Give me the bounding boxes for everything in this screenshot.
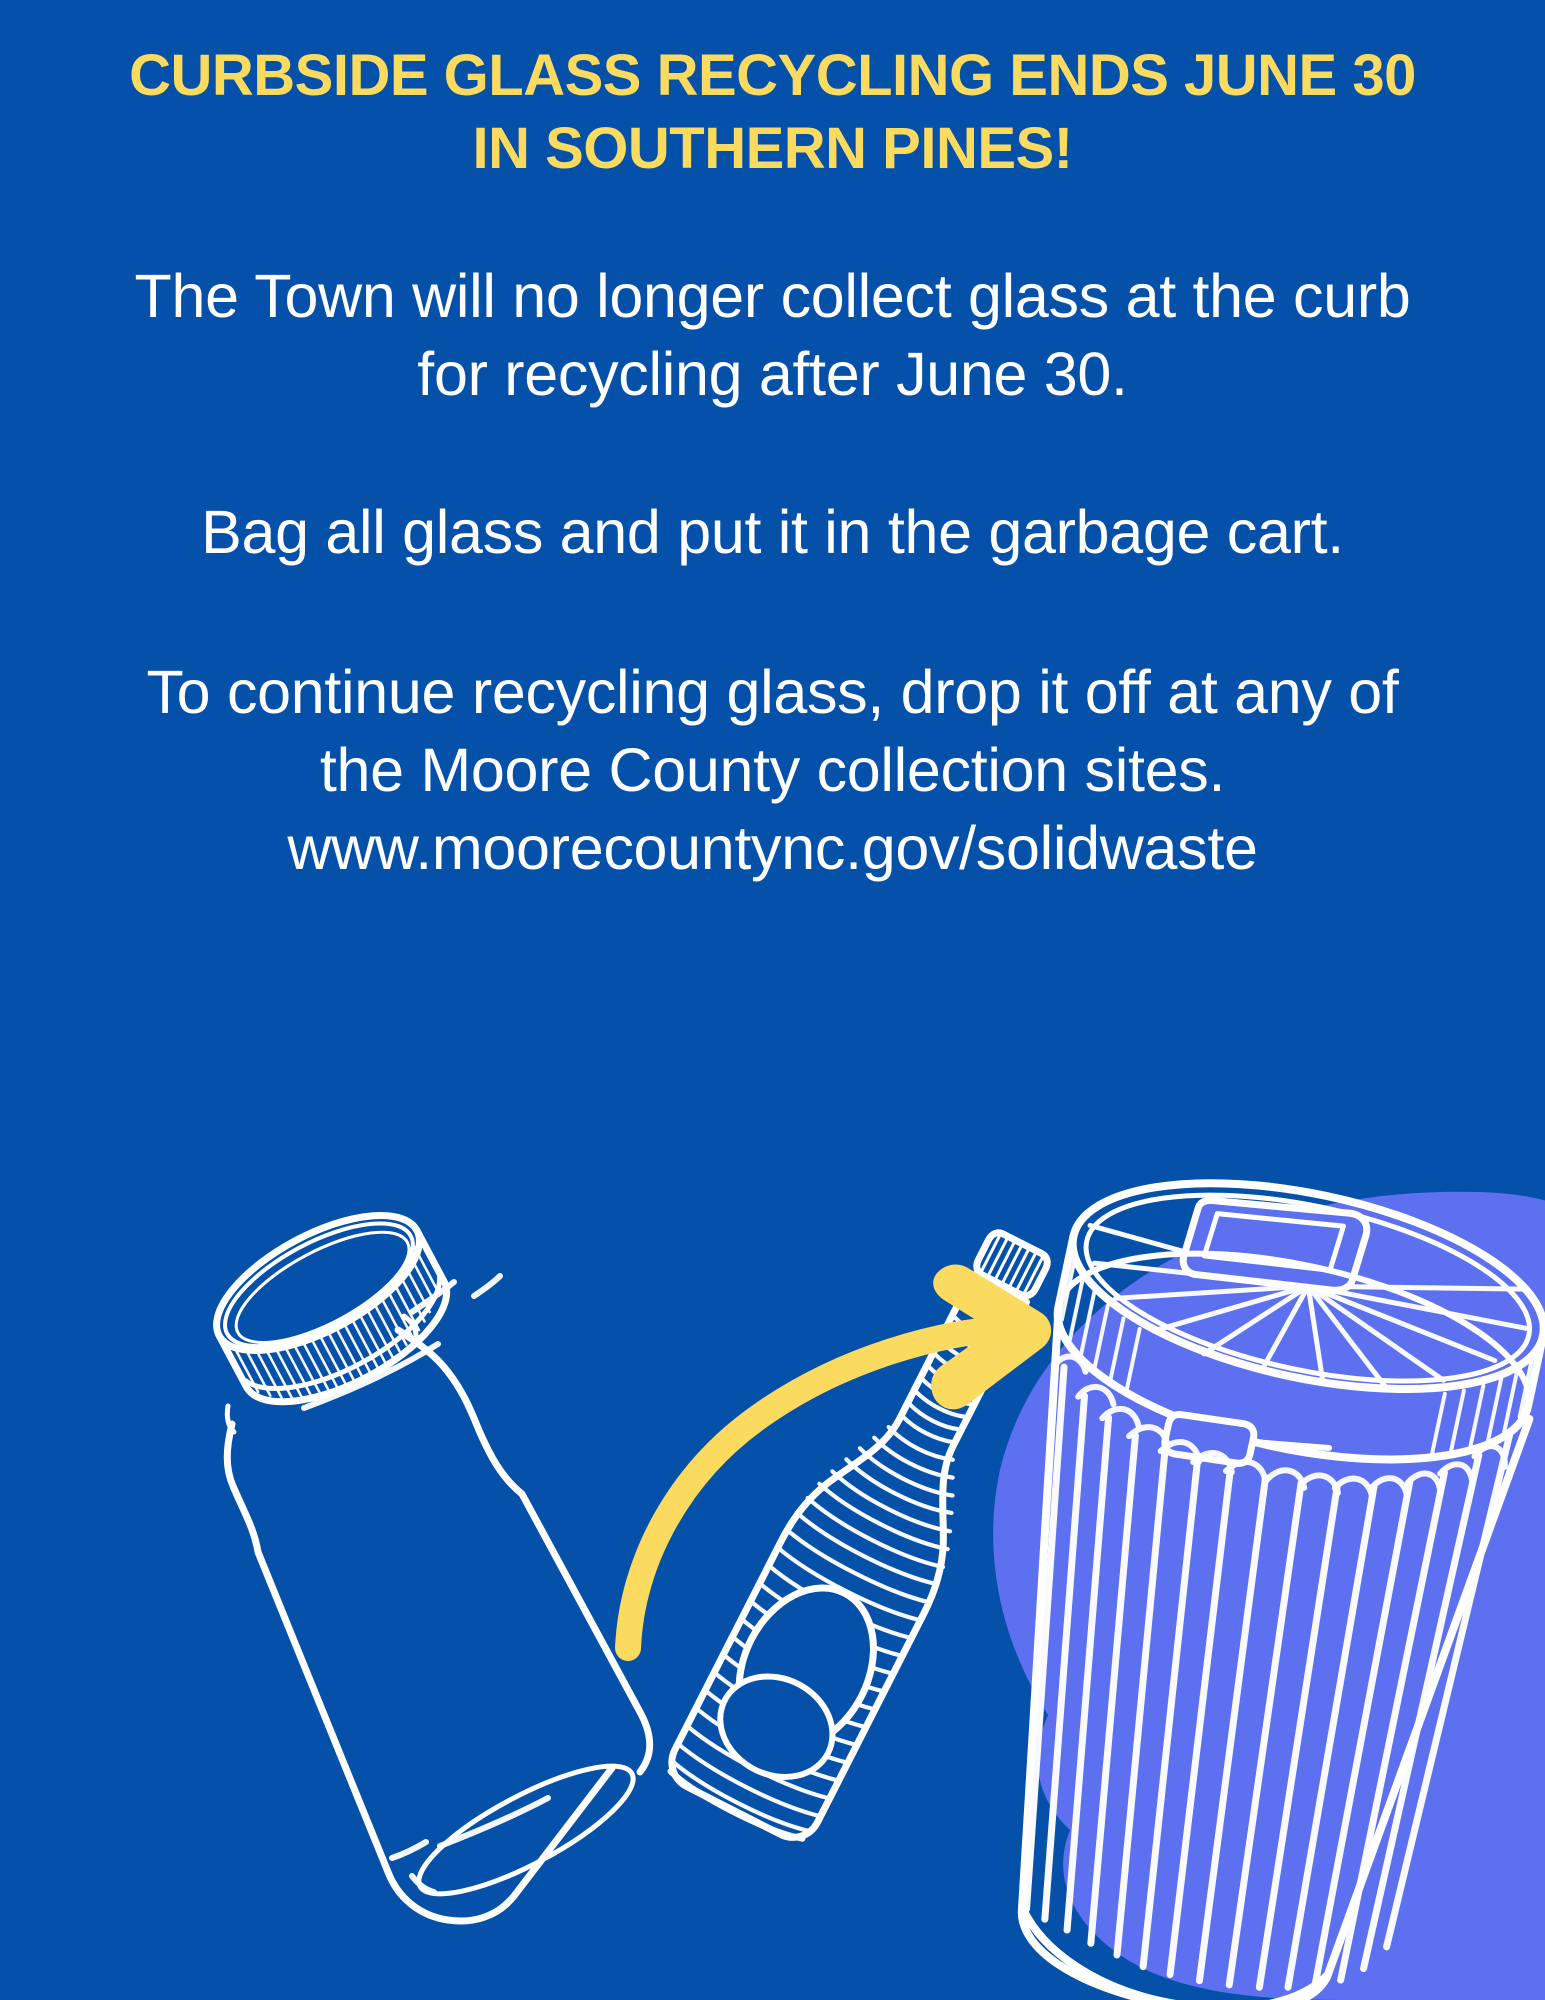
paragraph-bag-all-glass: Bag all glass and put it in the garbage … <box>18 493 1527 571</box>
text-content: CURBSIDE GLASS RECYCLING ENDS JUNE 30 IN… <box>0 0 1545 887</box>
cart-lid-latch <box>1163 1408 1256 1469</box>
bottle-cap <box>973 1229 1051 1299</box>
cart-lid-spokes <box>1068 1198 1534 1422</box>
jar-highlights <box>304 1276 500 1408</box>
cart-body-outline <box>923 1319 1529 2000</box>
p3-line-1: To continue recycling glass, drop it off… <box>18 653 1527 731</box>
jar-lid-top-rim <box>197 1188 440 1378</box>
periwinkle-blob-group <box>993 1198 1545 2000</box>
jar-lid-top-rim-inner <box>207 1199 430 1371</box>
curved-arrow-icon <box>628 1265 1051 1648</box>
cart-lid-skirt-ribs <box>1049 1255 1533 1476</box>
arrow-shaft <box>628 1328 1012 1648</box>
jar-lid-top-rim-inner2 <box>221 1211 424 1365</box>
bottle-label-oval <box>713 1565 900 1771</box>
paragraph-no-longer-collect: The Town will no longer collect glass at… <box>18 257 1527 413</box>
jar-neck-left <box>227 1406 234 1432</box>
glass-bottle-icon <box>662 1207 1094 1848</box>
blob-arc-stroke <box>1190 1203 1545 1272</box>
page-title: CURBSIDE GLASS RECYCLING ENDS JUNE 30 IN… <box>0 0 1545 185</box>
cart-lid-handle <box>1180 1181 1369 1307</box>
cart-lid-handle-inner <box>1204 1199 1343 1283</box>
jar-lid-band <box>219 1230 467 1429</box>
paragraph-drop-off: To continue recycling glass, drop it off… <box>18 653 1527 887</box>
cart-base <box>1010 1908 1328 2000</box>
cart-lid-skirt <box>1039 1236 1543 1496</box>
jar-body-outline <box>227 1424 612 1921</box>
cart-body-ribs <box>945 1338 1510 2000</box>
jar-base-highlights <box>392 1798 548 1892</box>
blob-arc-stroke-2 <box>1023 1318 1128 1480</box>
p1-line-2: for recycling after June 30. <box>18 335 1527 413</box>
headline-line-2: IN SOUTHERN PINES! <box>28 113 1517 186</box>
headline-line-1: CURBSIDE GLASS RECYCLING ENDS JUNE 30 <box>28 40 1517 113</box>
p3-line-2: the Moore County collection sites. <box>18 731 1527 809</box>
poster: CURBSIDE GLASS RECYCLING ENDS JUNE 30 IN… <box>0 0 1545 2000</box>
bottle-label-oval-inner <box>703 1658 850 1796</box>
jar-lid-lip <box>245 1277 458 1415</box>
website-url[interactable]: www.moorecountync.gov/solidwaste <box>18 809 1527 887</box>
p1-line-1: The Town will no longer collect glass at… <box>18 257 1527 335</box>
periwinkle-blob <box>993 1198 1545 2000</box>
body-copy: The Town will no longer collect glass at… <box>0 257 1545 887</box>
cart-lid-skirt-bottom <box>1039 1217 1545 1497</box>
cart-rib-caps <box>1040 1353 1509 1527</box>
cart-lid-top-inner <box>1070 1161 1545 1415</box>
bottle-body-hatching <box>667 1530 928 1838</box>
arrow-head <box>931 1265 1051 1410</box>
jar-neck-right <box>404 1316 416 1336</box>
bottle-base <box>667 1772 802 1846</box>
p2-line-1: Bag all glass and put it in the garbage … <box>18 493 1527 571</box>
bottle-outline <box>662 1252 1071 1847</box>
jar-lid-ribs <box>231 1245 456 1422</box>
garbage-cart-icon <box>921 1146 1545 2000</box>
glass-jar-icon <box>197 1188 650 1921</box>
cart-lid-latch-arm <box>1253 1432 1329 1458</box>
cart-lid-top <box>1054 1146 1545 1426</box>
bottle-neck-hatching <box>900 1291 1017 1446</box>
jar-base-ellipse <box>404 1744 648 1917</box>
bottle-neck-ring <box>968 1283 1023 1311</box>
jar-body-outline-right <box>398 1330 650 1772</box>
bottle-cap-ridges <box>981 1234 1044 1295</box>
bottle-shoulder-hatching <box>793 1408 991 1592</box>
